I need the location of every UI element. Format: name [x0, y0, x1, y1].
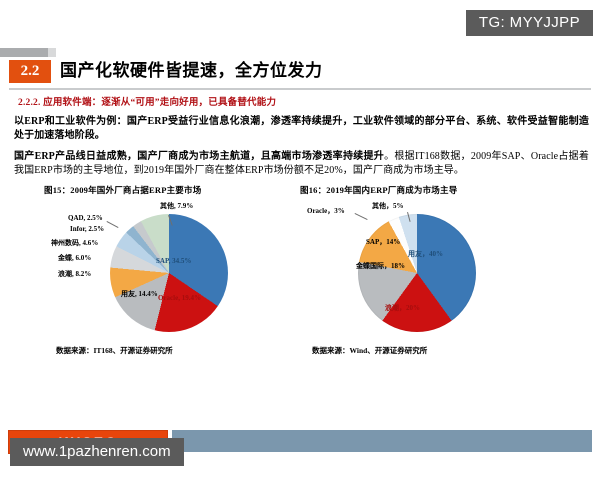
pie-label-inspur-16: 浪潮，20%	[385, 304, 420, 313]
figure-16-source: 数据来源：Wind、开源证券研究所	[312, 345, 427, 356]
figure-16: 图16：2019年国内ERP厂商成为市场主导 Oracle，3% 其他，5% S…	[300, 184, 568, 374]
figure-15-pie	[110, 214, 228, 332]
figure-16-pie	[358, 214, 476, 332]
bottom-watermark-url: www.1pazhenren.com	[10, 438, 184, 466]
section-header: 2.2 国产化软硬件皆提速，全方位发力	[0, 57, 600, 91]
pie-label-digital-china: 神州数码, 4.6%	[51, 239, 98, 248]
pie-label-kingdee-16: 金蝶国际，18%	[356, 262, 405, 270]
figure-15: 图15：2009年国外厂商占据ERP主要市场 其他, 7.9% QAD, 2.5…	[44, 184, 312, 374]
paragraph-2-bold: 国产ERP产品线日益成熟，国产厂商成为市场主航道，且高端市场渗透率持续提升	[14, 151, 384, 162]
header-grey-stub-light	[48, 48, 56, 57]
figure-15-title: 图15：2009年国外厂商占据ERP主要市场	[44, 184, 312, 196]
pie-label-inspur: 浪潮, 8.2%	[58, 270, 91, 279]
section-divider	[9, 88, 591, 90]
paragraph-2: 国产ERP产品线日益成熟，国产厂商成为市场主航道，且高端市场渗透率持续提升。根据…	[14, 150, 589, 178]
pie-label-oracle: Oracle, 19.4%	[158, 294, 201, 302]
figure-15-source: 数据来源：IT168、开源证券研究所	[56, 345, 173, 356]
pie-label-sap: SAP, 34.5%	[156, 257, 191, 266]
header-grey-stub	[0, 48, 48, 57]
pie-label-infor: Infor, 2.5%	[70, 225, 104, 234]
figure-15-canvas: 其他, 7.9% QAD, 2.5% Infor, 2.5% 神州数码, 4.6…	[44, 198, 312, 348]
figure-16-title: 图16：2019年国内ERP厂商成为市场主导	[300, 184, 568, 196]
pie-label-sap-16: SAP，14%	[366, 238, 400, 246]
pie-label-yonyou: 用友, 14.4%	[121, 290, 158, 298]
pie-label-oracle-16: Oracle，3%	[307, 207, 345, 216]
footer-accent-bar	[172, 430, 592, 452]
pie-label-other-16: 其他，5%	[372, 202, 404, 211]
pie-label-other: 其他, 7.9%	[160, 202, 193, 211]
pie-label-yonyou-16: 用友，40%	[408, 250, 443, 259]
section-title: 国产化软硬件皆提速，全方位发力	[60, 58, 323, 84]
pie-label-kingdee: 金蝶, 6.0%	[58, 254, 91, 263]
section-number-badge: 2.2	[9, 60, 51, 83]
figures-row: 图15：2009年国外厂商占据ERP主要市场 其他, 7.9% QAD, 2.5…	[0, 184, 600, 374]
leader-line-qad	[107, 221, 119, 228]
pie-label-qad: QAD, 2.5%	[68, 214, 103, 223]
top-watermark-badge: TG: MYYJJPP	[466, 10, 593, 36]
paragraph-1: 以ERP和工业软件为例：国产ERP受益行业信息化浪潮，渗透率持续提升，工业软件领…	[14, 115, 589, 143]
figure-16-canvas: Oracle，3% 其他，5% SAP，14% 金蝶国际，18% 用友，40% …	[300, 198, 568, 348]
sub-heading: 2.2.2. 应用软件端：逐渐从“可用”走向好用，已具备替代能力	[18, 94, 589, 108]
slide-page: 2.2 国产化软硬件皆提速，全方位发力 2.2.2. 应用软件端：逐渐从“可用”…	[0, 48, 600, 438]
body-copy: 2.2.2. 应用软件端：逐渐从“可用”走向好用，已具备替代能力 以ERP和工业…	[14, 94, 589, 185]
leader-line-oracle-16	[355, 213, 368, 220]
